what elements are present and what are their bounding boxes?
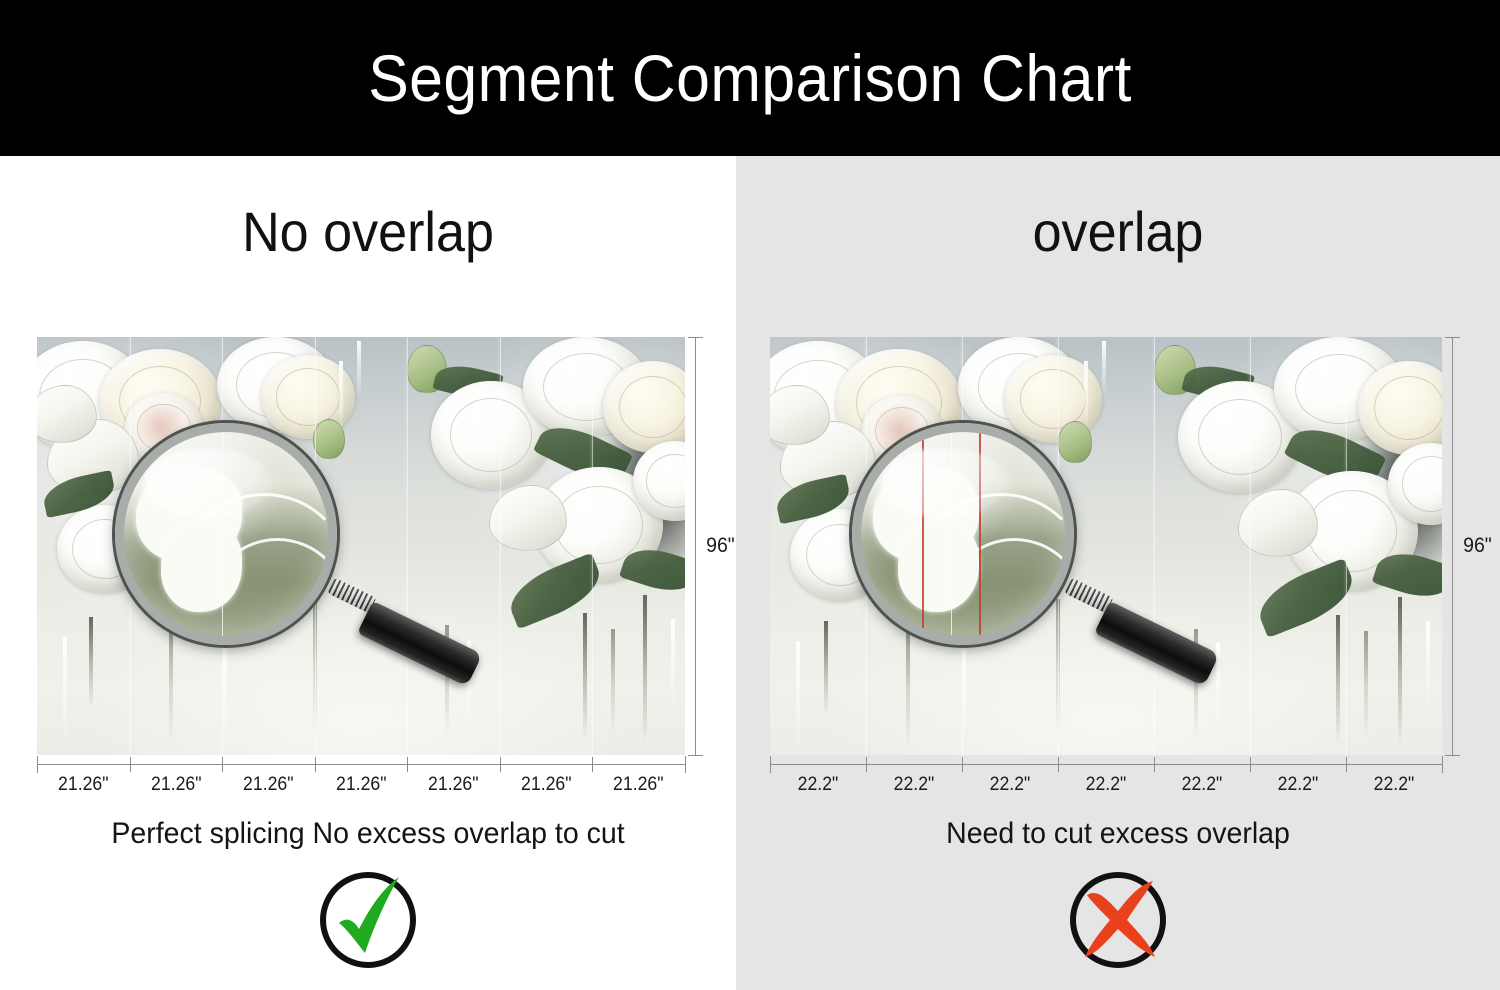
drip xyxy=(1364,631,1368,737)
caption-overlap: Need to cut excess overlap xyxy=(755,817,1481,851)
verdict-no-overlap xyxy=(0,867,736,973)
dimension-tick xyxy=(407,757,408,772)
height-label-right: 96" xyxy=(1463,534,1492,558)
panel-overlap: overlap xyxy=(736,156,1500,990)
segment-label: 21.26" xyxy=(596,774,682,796)
dimension-tick xyxy=(37,756,38,773)
seam-guide xyxy=(407,337,408,755)
drip xyxy=(169,623,173,743)
dimension-tick xyxy=(130,757,131,772)
lens-glare xyxy=(144,448,270,517)
drip xyxy=(339,361,343,433)
height-dimension-cap xyxy=(688,755,703,756)
drip xyxy=(89,617,93,709)
drip xyxy=(1426,621,1430,719)
segment-labels-left: 21.26" 21.26" 21.26" 21.26" 21.26" 21.26… xyxy=(37,774,685,796)
dimension-tick xyxy=(222,757,223,772)
drip xyxy=(611,629,615,735)
segment-comparison-page: Segment Comparison Chart No overlap xyxy=(0,0,1500,990)
mural-no-overlap xyxy=(37,337,685,755)
red-cross-icon xyxy=(1065,867,1171,973)
segment-label: 22.2" xyxy=(773,774,862,796)
segment-label: 22.2" xyxy=(965,774,1054,796)
seam-guide xyxy=(1154,337,1155,755)
dimension-tick xyxy=(770,756,771,773)
seam-guide xyxy=(500,337,501,755)
height-dimension-cap xyxy=(688,337,703,338)
title-bar: Segment Comparison Chart xyxy=(0,0,1500,156)
mural-artwork-right xyxy=(770,337,1442,755)
drip xyxy=(223,647,227,743)
dimension-tick xyxy=(1442,756,1443,773)
dimension-tick xyxy=(962,757,963,772)
panels-container: No overlap xyxy=(0,156,1500,990)
magnifier-lens xyxy=(852,423,1074,645)
drip xyxy=(796,641,800,753)
segment-labels-right: 22.2" 22.2" 22.2" 22.2" 22.2" 22.2" 22.2… xyxy=(770,774,1442,796)
drip xyxy=(357,341,361,399)
segment-label: 22.2" xyxy=(1349,774,1438,796)
drip xyxy=(824,621,828,715)
drip xyxy=(1336,615,1340,743)
verdict-overlap xyxy=(736,867,1500,973)
dimension-tick xyxy=(1058,757,1059,772)
segment-label: 21.26" xyxy=(411,774,497,796)
lens-glare xyxy=(881,448,1007,517)
drip xyxy=(643,595,647,743)
drip xyxy=(1102,341,1106,399)
dimension-tick xyxy=(500,757,501,772)
segment-label: 22.2" xyxy=(1061,774,1150,796)
drip xyxy=(1084,361,1088,433)
width-dimension-line-right xyxy=(770,764,1442,765)
mural-overlap xyxy=(770,337,1442,755)
green-check-icon xyxy=(315,867,421,973)
page-title: Segment Comparison Chart xyxy=(368,45,1132,111)
dimension-tick xyxy=(685,756,686,773)
segment-label: 22.2" xyxy=(1157,774,1246,796)
segment-label: 21.26" xyxy=(40,774,126,796)
seam-guide xyxy=(592,337,593,755)
segment-label: 21.26" xyxy=(318,774,404,796)
segment-label: 22.2" xyxy=(1253,774,1342,796)
height-label-left: 96" xyxy=(706,534,735,558)
drip xyxy=(1216,643,1220,729)
segment-label: 21.26" xyxy=(133,774,219,796)
dimension-tick xyxy=(1346,757,1347,772)
magnifier-lens xyxy=(115,423,337,645)
height-dimension-line-left xyxy=(695,337,696,755)
width-dimension-line-left xyxy=(37,764,685,765)
dimension-tick xyxy=(592,757,593,772)
panel-title-overlap: overlap xyxy=(763,204,1474,260)
segment-label: 21.26" xyxy=(225,774,311,796)
dimension-tick xyxy=(1154,757,1155,772)
dimension-tick xyxy=(315,757,316,772)
height-dimension-cap xyxy=(1445,337,1460,338)
height-dimension-line-right xyxy=(1452,337,1453,755)
drip xyxy=(583,613,587,739)
caption-no-overlap: Perfect splicing No excess overlap to cu… xyxy=(18,817,717,851)
height-dimension-cap xyxy=(1445,755,1460,756)
segment-label: 22.2" xyxy=(869,774,958,796)
panel-title-no-overlap: No overlap xyxy=(26,204,710,260)
seam-guide xyxy=(1250,337,1251,755)
drip xyxy=(63,637,67,749)
drip xyxy=(1398,597,1402,747)
dimension-tick xyxy=(1250,757,1251,772)
dimension-tick xyxy=(866,757,867,772)
segment-label: 21.26" xyxy=(503,774,589,796)
panel-no-overlap: No overlap xyxy=(0,156,736,990)
seam-guide xyxy=(1346,337,1347,755)
drip xyxy=(671,619,675,717)
drip xyxy=(906,627,910,749)
mural-artwork-left xyxy=(37,337,685,755)
